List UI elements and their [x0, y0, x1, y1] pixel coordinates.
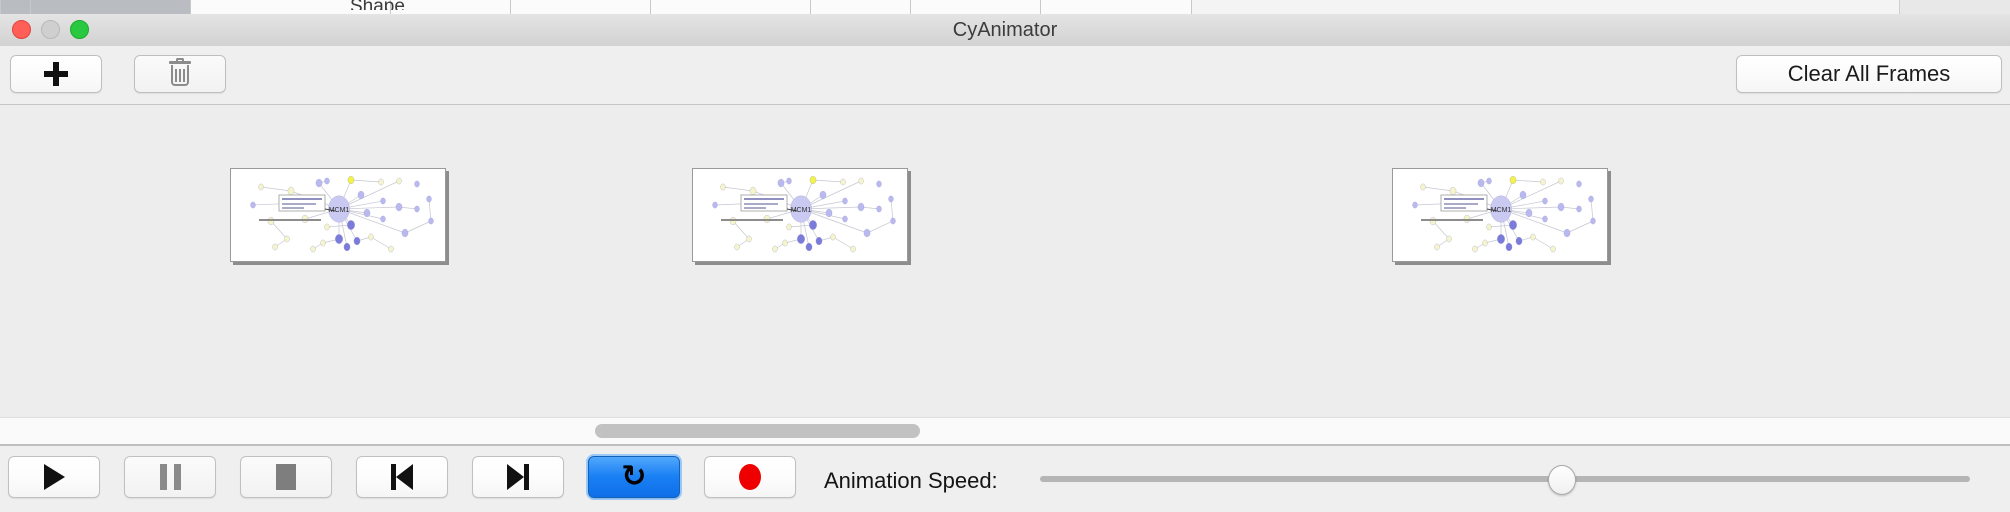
- title-bar: CyAnimator: [0, 14, 2010, 47]
- trash-icon: [169, 61, 191, 87]
- record-icon: [739, 464, 761, 490]
- frame-thumbnail[interactable]: MCM1: [230, 168, 446, 262]
- background-window-fragment: [30, 0, 192, 14]
- timeline-canvas[interactable]: MCM1MCM1MCM1 2131415161718 Seconds: [0, 105, 2010, 415]
- background-windows: Shape: [0, 0, 2010, 15]
- skip-forward-icon: [507, 464, 529, 490]
- background-window-fragment: [0, 0, 32, 14]
- add-frame-button[interactable]: [10, 55, 102, 93]
- pause-icon: [160, 464, 181, 490]
- background-window-fragment: [510, 0, 652, 14]
- frame-thumbnail[interactable]: MCM1: [692, 168, 908, 262]
- background-window-right: [1899, 0, 2010, 14]
- background-window-label: Shape: [350, 0, 405, 10]
- background-window-fragment: [910, 0, 1042, 14]
- pause-button[interactable]: [124, 456, 216, 498]
- loop-icon: ↻: [621, 462, 646, 492]
- stop-button[interactable]: [240, 456, 332, 498]
- delete-frame-button[interactable]: [134, 55, 226, 93]
- frame-thumbnail[interactable]: MCM1: [1392, 168, 1608, 262]
- background-window-fragment: [390, 0, 512, 14]
- plus-icon: [44, 62, 68, 86]
- clear-all-frames-button[interactable]: Clear All Frames: [1736, 55, 2002, 93]
- background-window-fragment: [650, 0, 812, 14]
- next-frame-button[interactable]: [472, 456, 564, 498]
- animation-speed-slider[interactable]: [1040, 476, 1970, 482]
- skip-back-icon: [391, 464, 413, 490]
- play-button[interactable]: [8, 456, 100, 498]
- horizontal-scrollbar[interactable]: [0, 417, 2010, 445]
- scrollbar-thumb[interactable]: [595, 424, 920, 438]
- prev-frame-button[interactable]: [356, 456, 448, 498]
- slider-thumb[interactable]: [1548, 465, 1576, 495]
- toolbar: Clear All Frames: [0, 46, 2010, 105]
- svg-text:MCM1: MCM1: [791, 207, 812, 214]
- stop-icon: [276, 464, 296, 490]
- svg-text:MCM1: MCM1: [329, 207, 350, 214]
- svg-text:MCM1: MCM1: [1491, 207, 1512, 214]
- background-window-fragment: [810, 0, 912, 14]
- record-button[interactable]: [704, 456, 796, 498]
- slider-track: [1040, 476, 1970, 482]
- cyanimator-window: Shape CyAnimator Clear All Frames MCM1MC…: [0, 0, 2010, 510]
- loop-button[interactable]: ↻: [588, 456, 680, 498]
- background-window-fragment: [1040, 0, 1192, 14]
- play-icon: [44, 464, 65, 490]
- window-title: CyAnimator: [0, 14, 2010, 46]
- playback-control-bar: ↻ Animation Speed:: [0, 444, 2010, 512]
- animation-speed-label: Animation Speed:: [824, 468, 998, 494]
